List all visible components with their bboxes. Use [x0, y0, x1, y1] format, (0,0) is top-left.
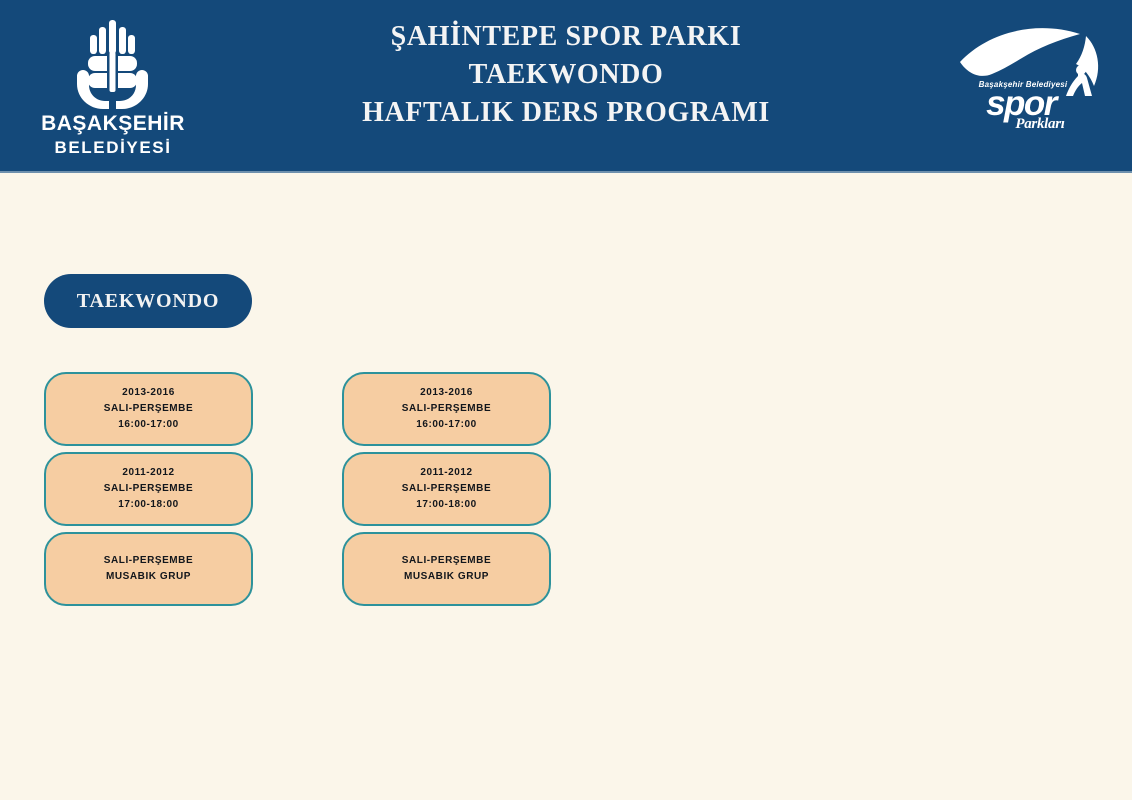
class-card-line: SALI-PERŞEMBE — [402, 553, 491, 569]
branch-pill-taekwondo[interactable]: TAEKWONDO — [44, 274, 252, 328]
class-card-column-0: 2013-2016SALI-PERŞEMBE16:00-17:002011-20… — [44, 372, 253, 612]
page-title-line-3: HAFTALIK DERS PROGRAMI — [260, 94, 872, 132]
class-card-line: 2013-2016 — [420, 385, 473, 401]
class-card-line: SALI-PERŞEMBE — [402, 481, 491, 497]
class-card-line: 17:00-18:00 — [118, 497, 179, 513]
class-card[interactable]: 2013-2016SALI-PERŞEMBE16:00-17:00 — [342, 372, 551, 446]
schedule-area: TAEKWONDO 2013-2016SALI-PERŞEMBE16:00-17… — [0, 173, 1132, 800]
class-card-line: 16:00-17:00 — [416, 417, 477, 433]
wheat-in-hands-icon — [18, 14, 208, 110]
class-card-line: SALI-PERŞEMBE — [402, 401, 491, 417]
class-card-line: MUSABIK GRUP — [106, 569, 191, 585]
class-card[interactable]: 2013-2016SALI-PERŞEMBE16:00-17:00 — [44, 372, 253, 446]
basaksehir-belediyesi-logo: BAŞAKŞEHİR BELEDİYESİ — [18, 14, 208, 164]
spor-parklari-logo: Başakşehir Belediyesi spor Parkları — [954, 24, 1104, 142]
class-card[interactable]: 2011-2012SALI-PERŞEMBE17:00-18:00 — [342, 452, 551, 526]
class-card-line: MUSABIK GRUP — [404, 569, 489, 585]
class-card-line: SALI-PERŞEMBE — [104, 481, 193, 497]
class-card-line: SALI-PERŞEMBE — [104, 401, 193, 417]
page-title-line-2: TAEKWONDO — [260, 56, 872, 94]
class-card[interactable]: SALI-PERŞEMBEMUSABIK GRUP — [44, 532, 253, 606]
class-card-line: 2011-2012 — [122, 465, 174, 481]
municipality-name: BAŞAKŞEHİR — [18, 112, 208, 136]
class-card-line: 2013-2016 — [122, 385, 175, 401]
municipality-subtitle: BELEDİYESİ — [18, 138, 208, 158]
spor-logo-subtitle: Parkları — [986, 116, 1094, 133]
class-card-line: SALI-PERŞEMBE — [104, 553, 193, 569]
class-card[interactable]: SALI-PERŞEMBEMUSABIK GRUP — [342, 532, 551, 606]
page-title: ŞAHİNTEPE SPOR PARKI TAEKWONDO HAFTALIK … — [260, 18, 872, 132]
class-card-column-1: 2013-2016SALI-PERŞEMBE16:00-17:002011-20… — [342, 372, 551, 612]
class-card[interactable]: 2011-2012SALI-PERŞEMBE17:00-18:00 — [44, 452, 253, 526]
branch-pill-label: TAEKWONDO — [77, 290, 219, 313]
class-card-line: 17:00-18:00 — [416, 497, 477, 513]
class-card-line: 2011-2012 — [420, 465, 472, 481]
page-header: BAŞAKŞEHİR BELEDİYESİ ŞAHİNTEPE SPOR PAR… — [0, 0, 1132, 173]
class-card-line: 16:00-17:00 — [118, 417, 179, 433]
page-title-line-1: ŞAHİNTEPE SPOR PARKI — [260, 18, 872, 56]
